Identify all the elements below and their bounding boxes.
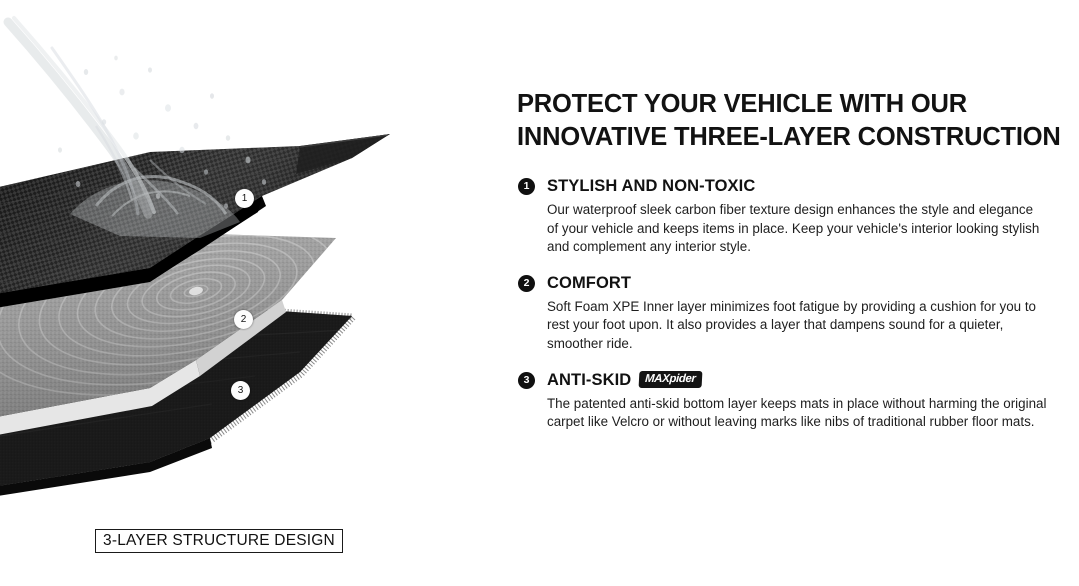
feature-title-2-text: COMFORT bbox=[547, 273, 631, 293]
feature-number-1: 1 bbox=[518, 178, 535, 195]
callout-badge-3: 3 bbox=[231, 381, 250, 400]
page-title: PROTECT YOUR VEHICLE WITH OUR INNOVATIVE… bbox=[517, 88, 1047, 154]
feature-number-2: 2 bbox=[518, 275, 535, 292]
content-column: PROTECT YOUR VEHICLE WITH OUR INNOVATIVE… bbox=[517, 88, 1047, 432]
feature-item-2: 2 COMFORT Soft Foam XPE Inner layer mini… bbox=[517, 273, 1047, 354]
feature-body-3: The patented anti-skid bottom layer keep… bbox=[547, 395, 1047, 432]
feature-title-2: COMFORT bbox=[547, 273, 1047, 293]
feature-number-3: 3 bbox=[518, 372, 535, 389]
feature-title-3-text: ANTI-SKID bbox=[547, 370, 631, 390]
feature-title-1-text: STYLISH AND NON-TOXIC bbox=[547, 176, 755, 196]
feature-item-1: 1 STYLISH AND NON-TOXIC Our waterproof s… bbox=[517, 176, 1047, 257]
feature-body-1: Our waterproof sleek carbon fiber textur… bbox=[547, 201, 1047, 257]
structure-design-label: 3-LAYER STRUCTURE DESIGN bbox=[95, 529, 343, 553]
callout-badge-2: 2 bbox=[234, 310, 253, 329]
three-layer-mat-illustration: 1 2 3 bbox=[0, 0, 500, 500]
callout-badge-1: 1 bbox=[235, 189, 254, 208]
feature-title-3: ANTI-SKID MAXpider bbox=[547, 370, 1047, 390]
feature-title-1: STYLISH AND NON-TOXIC bbox=[547, 176, 1047, 196]
feature-item-3: 3 ANTI-SKID MAXpider The patented anti-s… bbox=[517, 370, 1047, 432]
headline-line-2: INNOVATIVE THREE-LAYER CONSTRUCTION bbox=[517, 121, 1047, 154]
mat-layers-svg bbox=[0, 0, 500, 500]
maxpider-logo: MAXpider bbox=[639, 371, 703, 388]
feature-body-2: Soft Foam XPE Inner layer minimizes foot… bbox=[547, 298, 1047, 354]
headline-line-1: PROTECT YOUR VEHICLE WITH OUR bbox=[517, 88, 1047, 121]
